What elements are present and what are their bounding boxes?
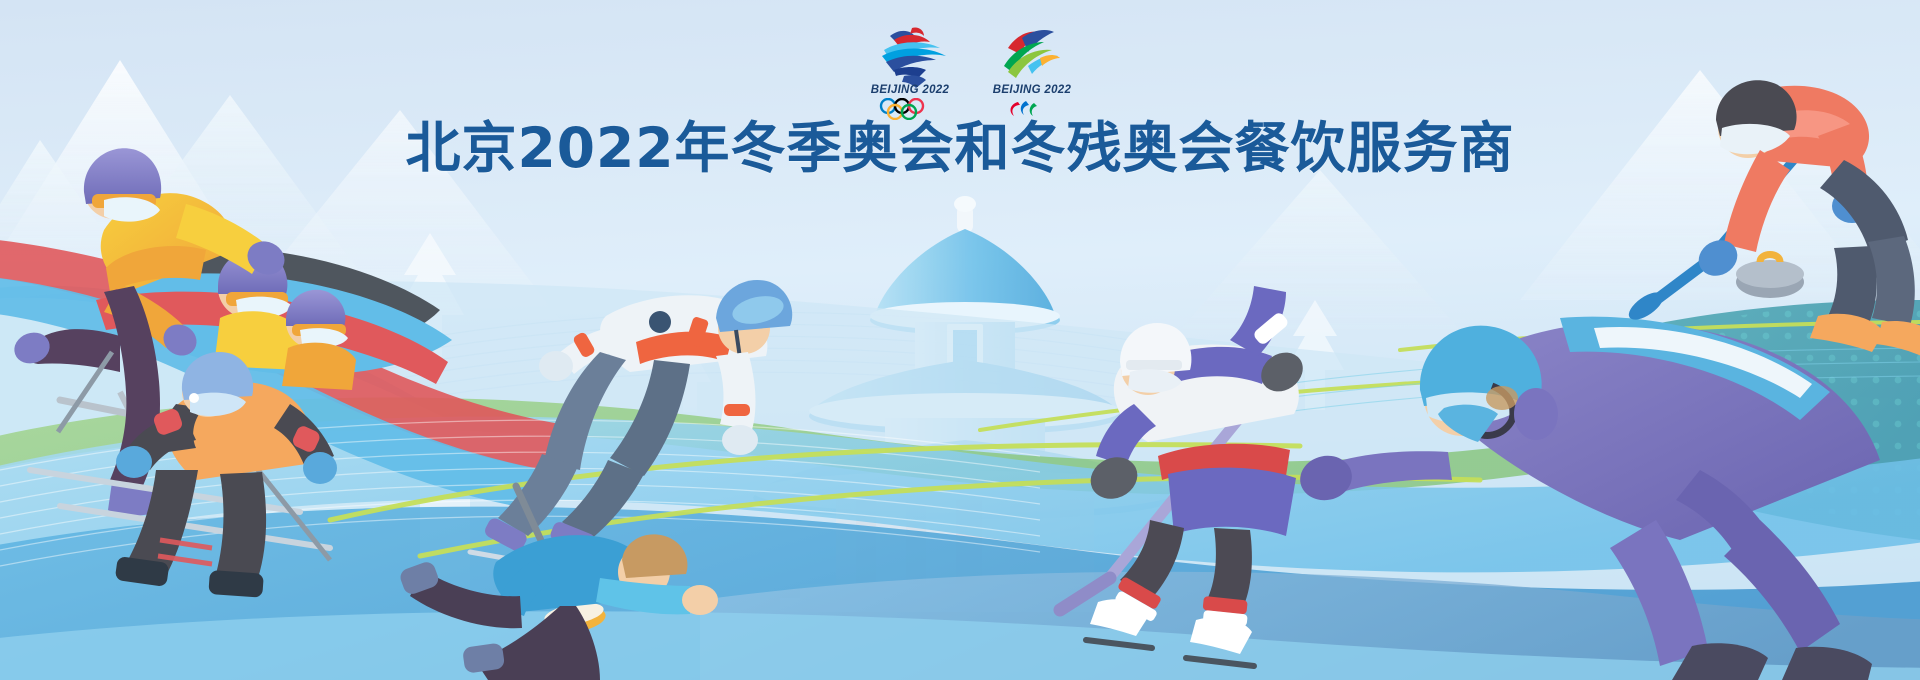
athlete-hockey-player (1060, 286, 1310, 666)
page-title: 北京2022年冬季奥会和冬残奥会餐饮服务商 (0, 118, 1920, 179)
curling-stone (1736, 255, 1804, 299)
paralympic-emblem: BEIJING 2022 (982, 22, 1082, 122)
emblem-group: BEIJING 2022 BEIJING 20 (860, 22, 1090, 122)
athlete-curler-delivering (398, 486, 718, 680)
olympic-emblem: BEIJING 2022 (860, 22, 960, 122)
olympic-wordmark: BEIJING 2022 (860, 84, 960, 96)
athlete-alpine-skier (30, 352, 337, 598)
paralympic-wordmark: BEIJING 2022 (982, 84, 1082, 96)
olympic-banner: BEIJING 2022 BEIJING 20 (0, 0, 1920, 680)
athlete-speed-skater-white (470, 280, 792, 572)
athlete-speed-skater-purple (1296, 317, 1880, 680)
